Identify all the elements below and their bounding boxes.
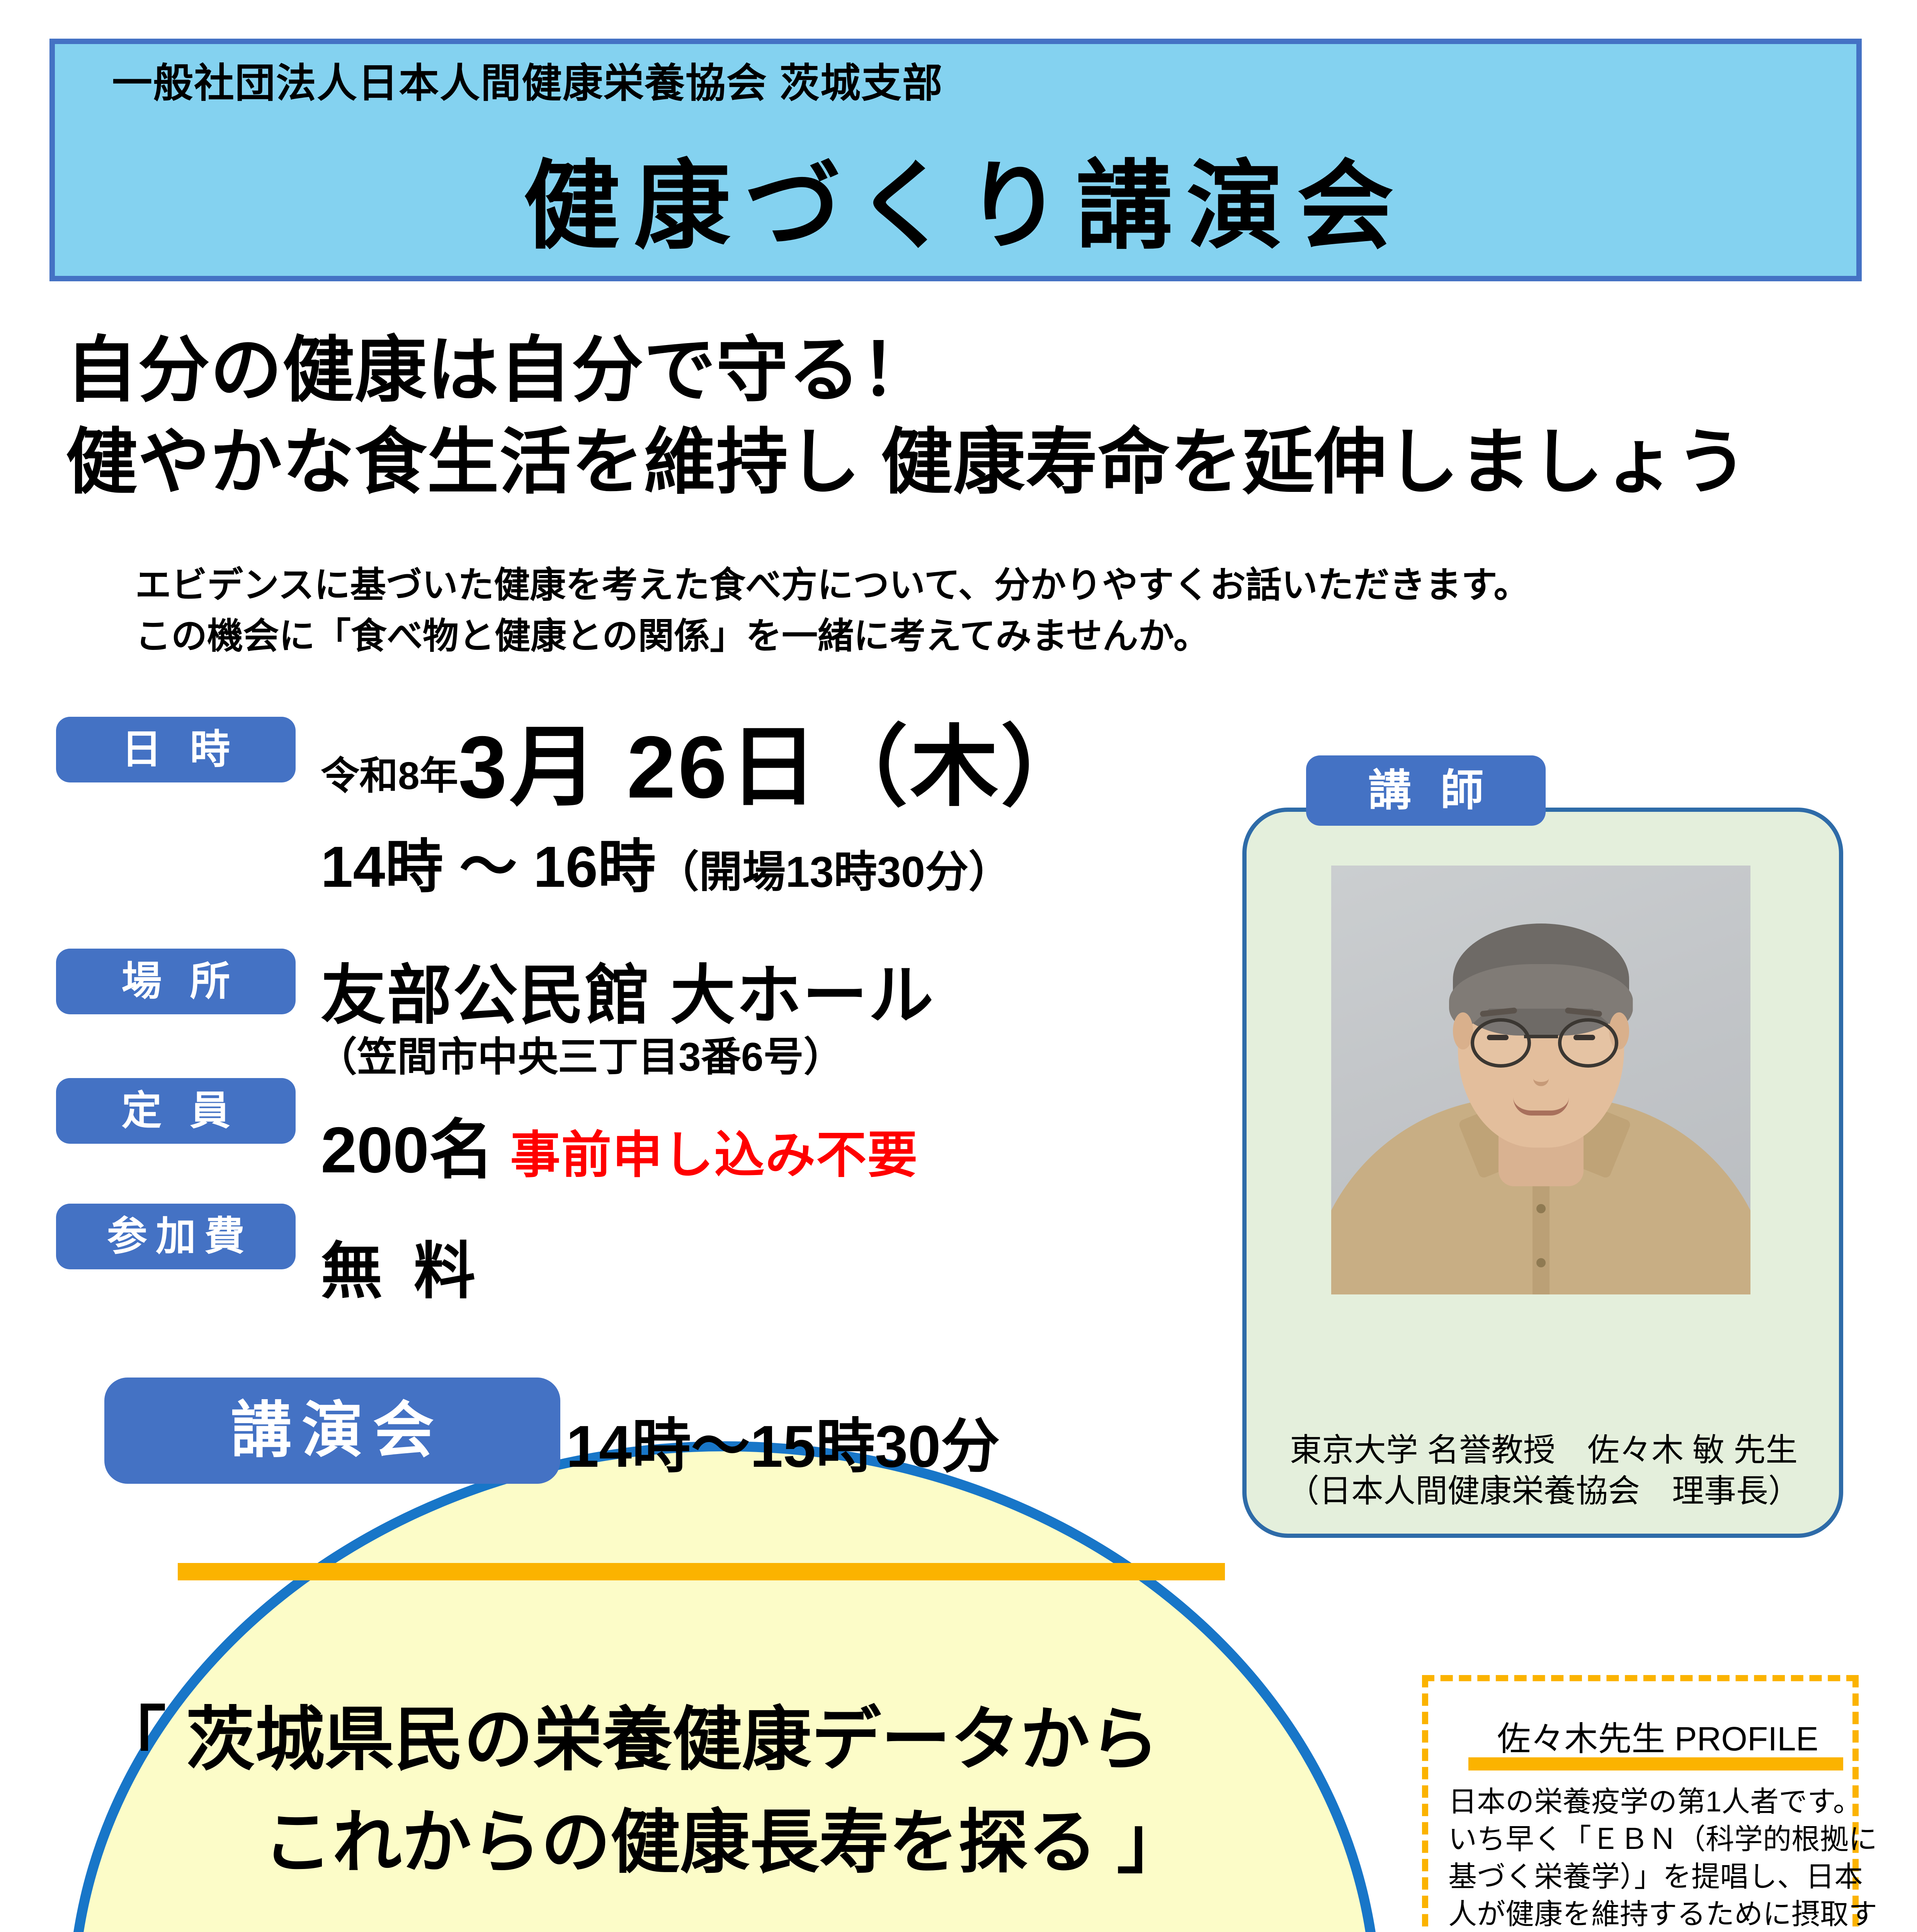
- event-date: 令和8年3月 26日（木）: [321, 696, 1091, 823]
- description-line-1: エビデンスに基づいた健康を考えた食べ方について、分かりやすくお話いただきます。: [135, 560, 1835, 611]
- profile-line-4: 人が健康を維持するために摂取す: [1448, 1896, 1842, 1932]
- lecture-title: 「 茨城県民の栄養健康データから これからの健康長寿を探る 」: [89, 1689, 1360, 1895]
- description-block: エビデンスに基づいた健康を考えた食べ方について、分かりやすくお話いただきます。 …: [135, 560, 1835, 662]
- label-badge-date: 日 時: [56, 717, 296, 782]
- glasses-bridge: [1524, 1035, 1558, 1038]
- subtitle-block: 自分の健康は自分で守る！ 健やかな食生活を維持し 健康寿命を延伸しましょう: [66, 325, 1882, 509]
- event-time-range: 14時 ～ 16時: [321, 834, 656, 899]
- photo-button-lower: [1536, 1258, 1546, 1267]
- ellipse-rule-solid: [178, 1563, 1225, 1580]
- venue-name: 友部公民館 大ホール: [321, 943, 935, 1037]
- page-title: 健康づくり講演会: [0, 128, 1917, 267]
- label-badge-lecturer: 講 師: [1306, 755, 1546, 826]
- glasses-icon-left: [1471, 1018, 1531, 1068]
- subtitle-line-1: 自分の健康は自分で守る！: [66, 325, 1882, 417]
- lecture-time: 14時～15時30分: [566, 1399, 1000, 1484]
- profile-heading: 佐々木先生 PROFILE: [1468, 1712, 1847, 1760]
- no-reservation-note: 事前申し込み不要: [510, 1127, 918, 1183]
- lecture-title-line-2: これからの健康長寿を探る 」: [89, 1791, 1360, 1894]
- label-badge-lecture: 講演会: [104, 1378, 560, 1484]
- venue-address: （笠間市中央三丁目3番6号）: [317, 1024, 844, 1082]
- event-open-time: （開場13時30分）: [656, 848, 1012, 896]
- label-badge-capacity: 定 員: [56, 1078, 296, 1144]
- fee-value: 無 料: [321, 1221, 482, 1311]
- event-era: 令和8年: [321, 754, 458, 798]
- speaker-caption: 東京大学 名誉教授 佐々木 敏 先生 （日本人間健康栄養協会 理事長）: [1248, 1430, 1839, 1512]
- subtitle-line-2: 健やかな食生活を維持し 健康寿命を延伸しましょう: [66, 417, 1882, 509]
- profile-line-1: 日本の栄養疫学の第1人者です。: [1448, 1783, 1842, 1821]
- glasses-icon-right: [1558, 1018, 1618, 1068]
- event-date-main: 3月 26日（木）: [458, 718, 1091, 816]
- profile-line-3: 基づく栄養学）」を提唱し、日本: [1448, 1858, 1842, 1896]
- description-line-2: この機会に「食べ物と健康との関係」を一緒に考えてみませんか。: [135, 611, 1835, 662]
- profile-body: 日本の栄養疫学の第1人者です。いち早く「ＥＢＮ（科学的根拠に基づく栄養学）」を提…: [1448, 1783, 1842, 1932]
- speaker-photo: [1331, 866, 1750, 1294]
- label-badge-place: 場 所: [56, 949, 296, 1014]
- event-time: 14時 ～ 16時（開場13時30分）: [321, 820, 1012, 904]
- photo-nose: [1533, 1055, 1549, 1086]
- organization-name: 一般社団法人日本人間健康栄養協会 茨城支部: [112, 50, 943, 109]
- profile-line-2: いち早く「ＥＢＮ（科学的根拠に: [1448, 1821, 1842, 1858]
- capacity-value: 200名: [321, 1114, 494, 1186]
- lecture-title-line-1: 「 茨城県民の栄養健康データから: [89, 1689, 1360, 1791]
- photo-eye-right: [1573, 1035, 1595, 1040]
- speaker-caption-line-1: 東京大学 名誉教授 佐々木 敏 先生: [1248, 1430, 1839, 1471]
- photo-ear-left: [1453, 1012, 1473, 1049]
- speaker-caption-line-2: （日本人間健康栄養協会 理事長）: [1248, 1471, 1839, 1512]
- capacity-row: 200名事前申し込み不要: [321, 1097, 918, 1191]
- photo-eye-left: [1487, 1035, 1509, 1040]
- profile-heading-underline: [1468, 1757, 1843, 1770]
- label-badge-fee: 参加費: [56, 1204, 296, 1269]
- photo-button-upper: [1536, 1204, 1546, 1213]
